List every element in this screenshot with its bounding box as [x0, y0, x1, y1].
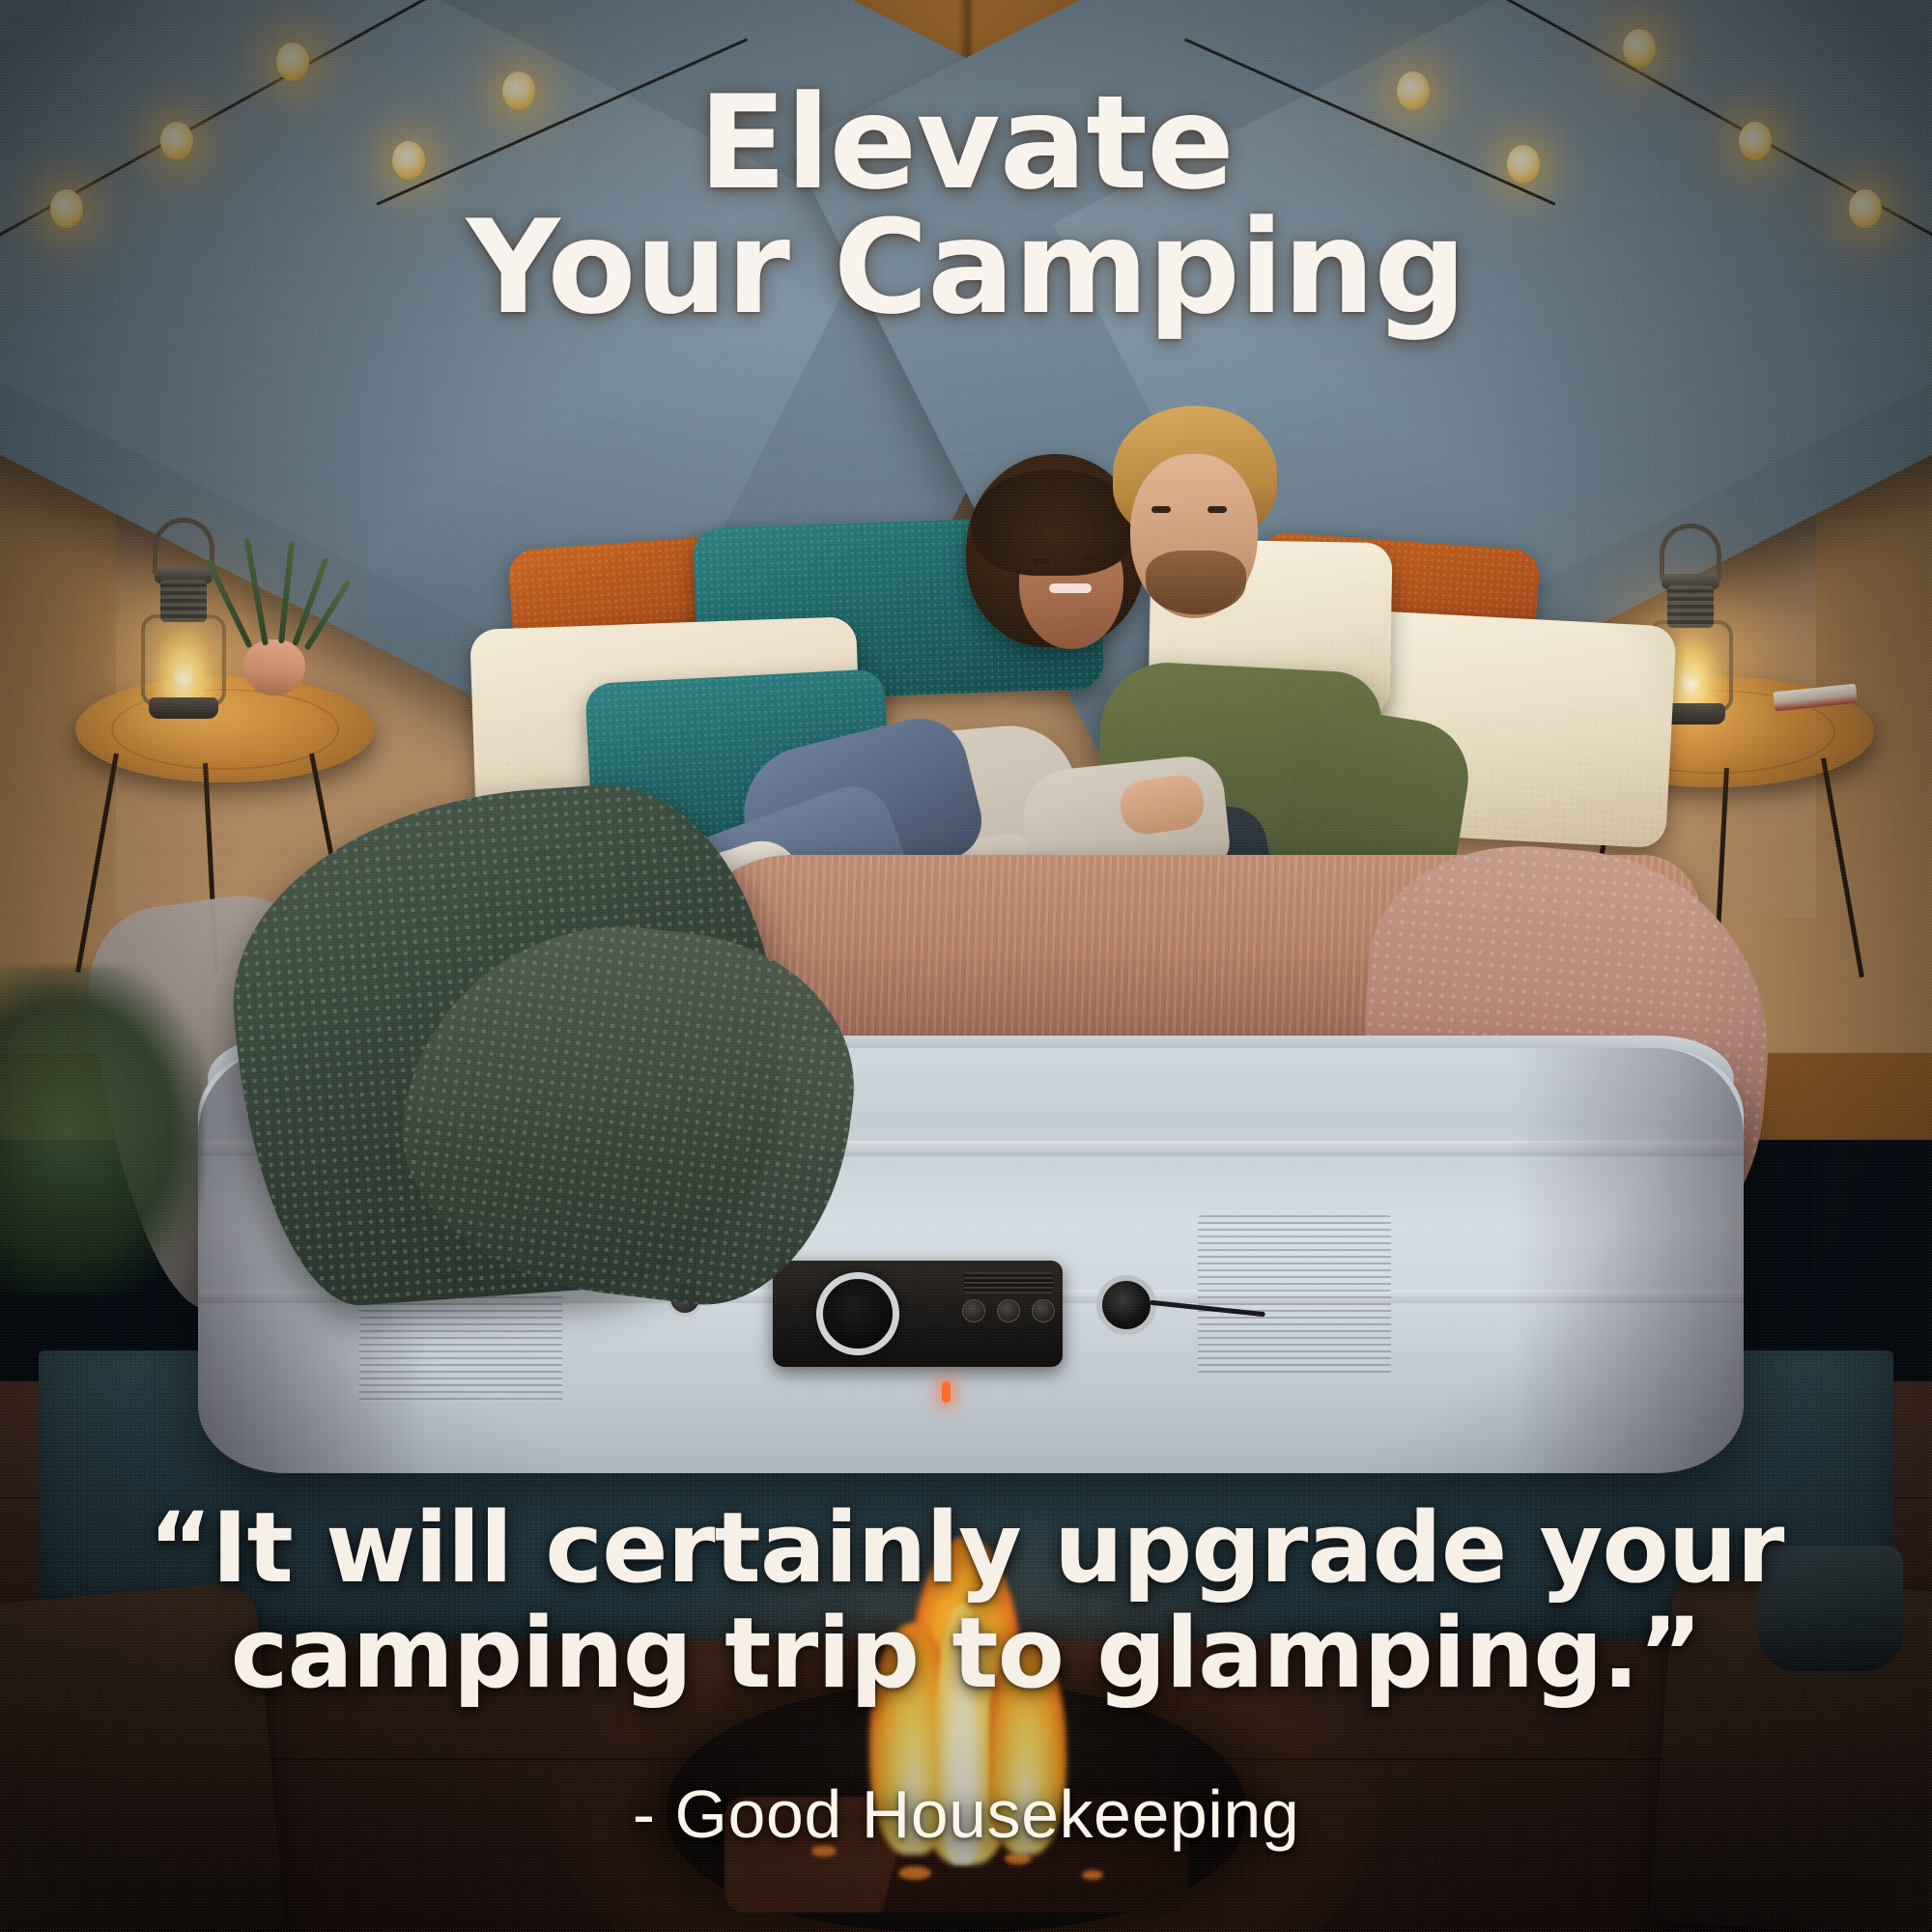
- quote-attribution: - Good Housekeeping: [0, 1776, 1932, 1853]
- man-beard: [1146, 551, 1246, 614]
- oil-lantern-left: [126, 522, 241, 724]
- pump-status-led: [942, 1381, 951, 1403]
- page-title: Elevate Your Camping: [0, 81, 1932, 329]
- man-eye-left: [1151, 506, 1171, 513]
- man-eye-right: [1207, 506, 1227, 513]
- ad-creative: Elevate Your Camping “It will certainly …: [0, 0, 1932, 1932]
- inflation-dial[interactable]: [816, 1272, 899, 1355]
- pump-vent-grille: [964, 1272, 1053, 1293]
- woman-eye-right: [1084, 556, 1099, 562]
- woman-smile: [1049, 583, 1092, 593]
- pump-button-inflate[interactable]: [962, 1299, 985, 1322]
- mattress-air-vent[interactable]: [1096, 1275, 1156, 1335]
- plant-pot-left: [243, 639, 305, 696]
- mattress-shadow-right: [1512, 1048, 1744, 1473]
- headline-line-2: Your Camping: [0, 206, 1932, 330]
- quote-line-1: “It will certainly upgrade your: [116, 1495, 1816, 1601]
- string-light-bulb: [276, 43, 309, 81]
- woman-hair-front: [972, 469, 1136, 576]
- pump-button-power[interactable]: [1032, 1299, 1055, 1322]
- woman-eye-left: [1034, 558, 1049, 564]
- pump-control-panel[interactable]: [773, 1261, 1063, 1367]
- foliage-foreground-left: [0, 966, 203, 1294]
- mattress-warning-label-right: [1198, 1215, 1391, 1375]
- pump-button-deflate[interactable]: [997, 1299, 1020, 1322]
- quote-line-2: camping trip to glamping.”: [116, 1601, 1816, 1706]
- string-light-bulb: [1623, 29, 1656, 68]
- testimonial-quote: “It will certainly upgrade your camping …: [116, 1495, 1816, 1706]
